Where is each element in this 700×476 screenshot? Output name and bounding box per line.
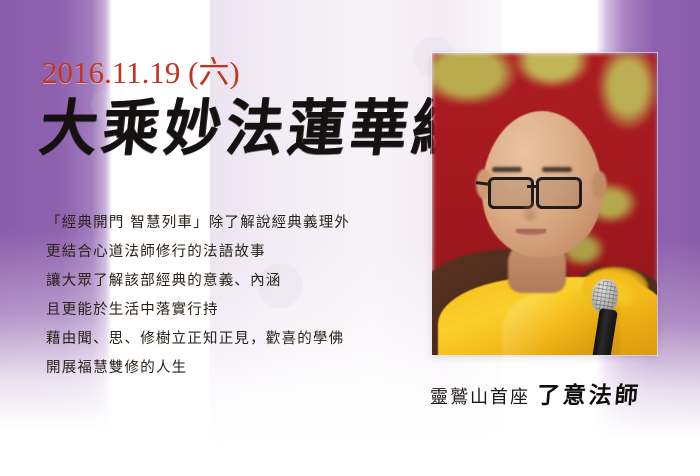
- description-line: 開展福慧雙修的人生: [46, 354, 386, 383]
- ear-right: [592, 171, 607, 199]
- eyebrow-right: [542, 167, 572, 172]
- speaker-photo: [432, 53, 657, 355]
- glasses-bridge: [527, 185, 538, 188]
- description-line: 讓大眾了解該部經典的意義、內涵: [46, 267, 386, 296]
- eyebrow-left: [492, 167, 522, 172]
- speaker-name: 了意法師: [536, 376, 643, 410]
- description-block: 「經典開門 智慧列車」除了解說經典義理外 更結合心道法師修行的法語故事 讓大眾了…: [46, 209, 386, 383]
- mouth: [516, 229, 546, 235]
- nose: [520, 199, 540, 221]
- event-date: 2016.11.19 (六): [42, 47, 240, 92]
- description-line: 藉由聞、思、修樹立正知正見，歡喜的學佛: [46, 325, 386, 354]
- speaker-organization: 靈鷲山首座: [430, 383, 530, 409]
- speaker-credit: 靈鷲山首座 了意法師: [430, 376, 680, 410]
- page-title: 大乘妙法蓮華經: [36, 95, 477, 163]
- glasses-lens-right: [536, 177, 582, 209]
- event-banner: 2016.11.19 (六) 大乘妙法蓮華經 「經典開門 智慧列車」除了解說經典…: [0, 0, 700, 476]
- description-line: 「經典開門 智慧列車」除了解說經典義理外: [46, 209, 386, 238]
- description-line: 且更能於生活中落實行持: [46, 296, 386, 325]
- description-line: 更結合心道法師修行的法語故事: [46, 238, 386, 267]
